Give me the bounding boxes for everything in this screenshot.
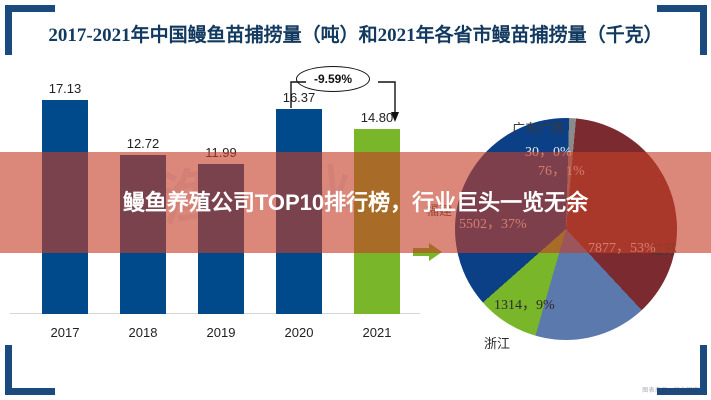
growth-rate-badge: -9.59% bbox=[296, 66, 370, 92]
bar-value-label: 16.37 bbox=[264, 90, 334, 105]
bar-value-label: 14.80 bbox=[342, 110, 412, 125]
bar-value-label: 12.72 bbox=[108, 136, 178, 151]
bar-x-tick-2019: 2019 bbox=[186, 325, 256, 340]
bar-x-tick-2017: 2017 bbox=[30, 325, 100, 340]
overlay-headline: 鳗鱼养殖公司TOP10排行榜，行业巨头一览无余 bbox=[0, 152, 711, 253]
source-watermark: 图表来源：行业研究 bbox=[642, 385, 699, 394]
infographic-canvas: 2017-2021年中国鳗鱼苗捕捞量（吨）和2021年各省市鳗苗捕捞量（千克） … bbox=[0, 0, 711, 400]
bar-x-tick-2018: 2018 bbox=[108, 325, 178, 340]
bar-x-tick-2021: 2021 bbox=[342, 325, 412, 340]
bar-x-tick-2020: 2020 bbox=[264, 325, 334, 340]
bar-value-label: 17.13 bbox=[30, 81, 100, 96]
chart-title: 2017-2021年中国鳗鱼苗捕捞量（吨）和2021年各省市鳗苗捕捞量（千克） bbox=[0, 20, 711, 47]
pie-label-guangdong-guangxi: 广东广西 bbox=[512, 118, 564, 137]
pie-label-zhejiang: 浙江 bbox=[484, 333, 510, 352]
pie-value-zhejiang: 1314，9% bbox=[494, 294, 555, 314]
